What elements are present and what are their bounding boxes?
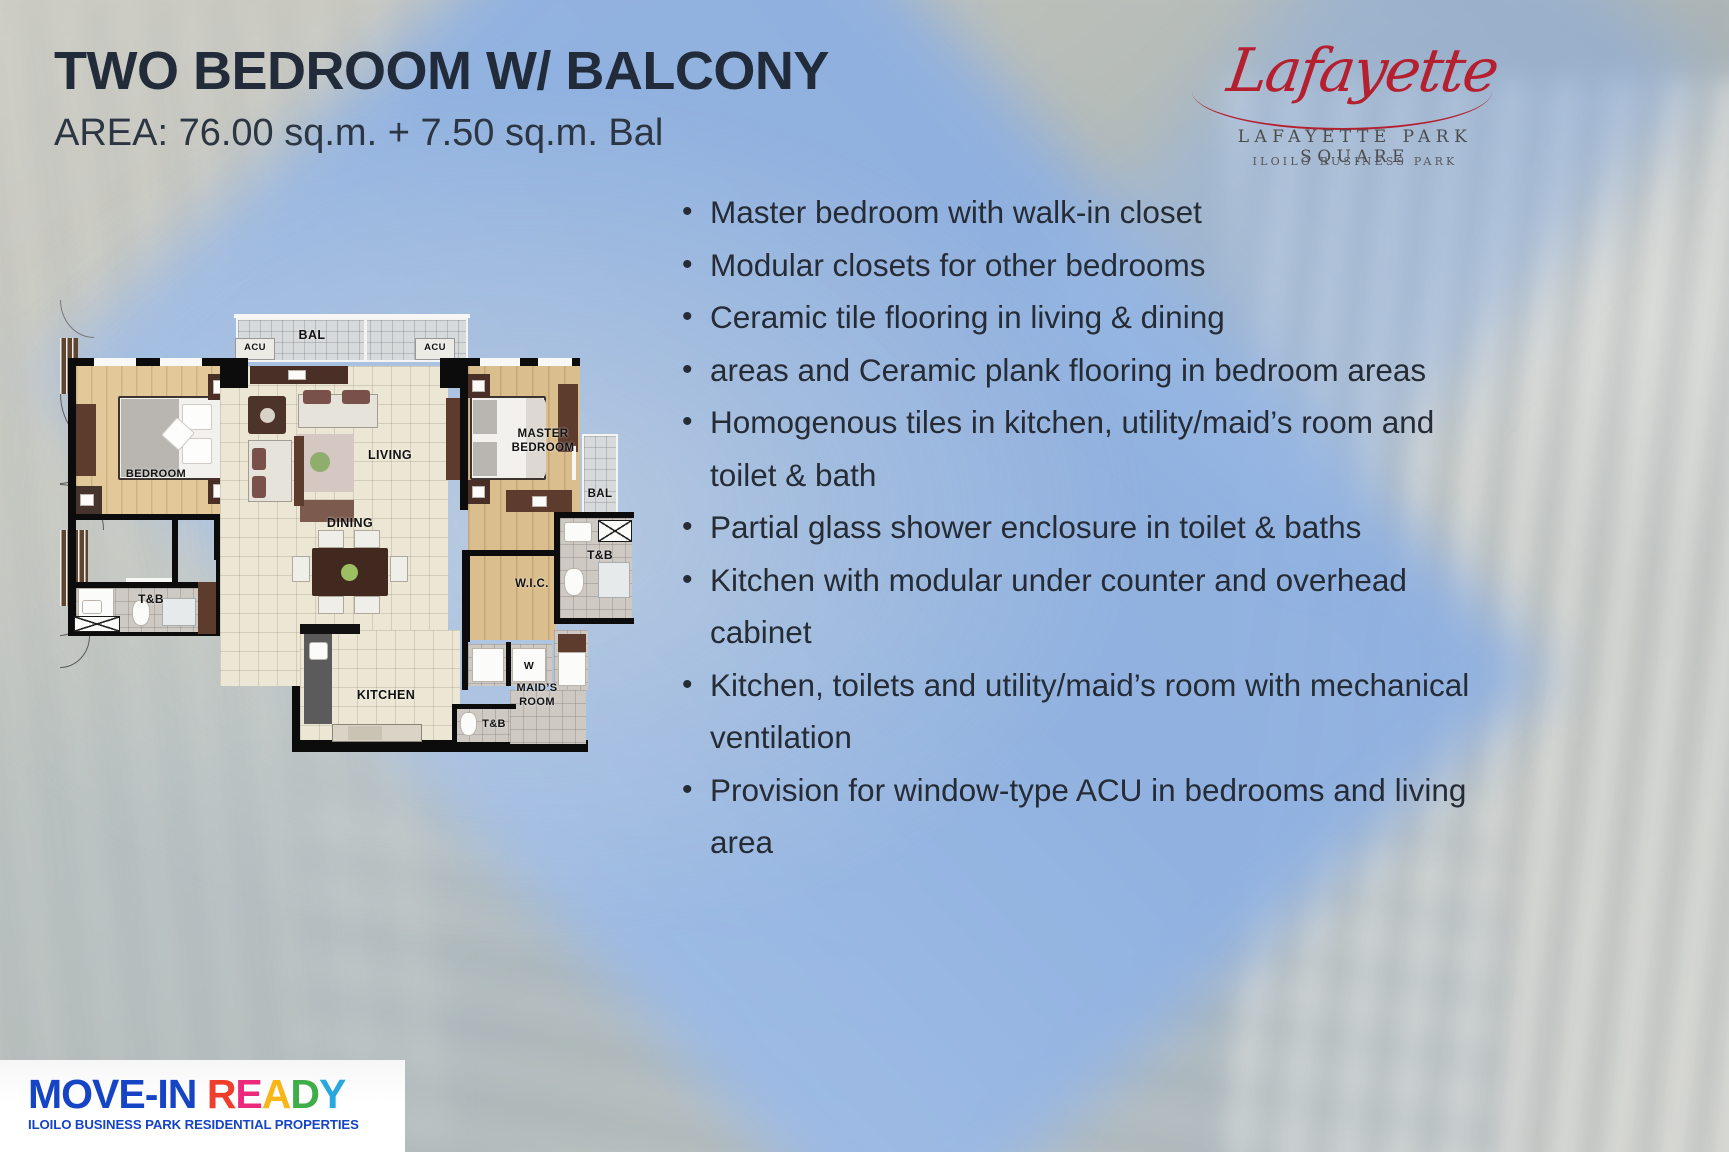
tb-left-window-icon: [74, 616, 120, 632]
list-item: • Partial glass shower enclosure in toil…: [682, 501, 1502, 554]
bedroom-lower-wall-b: [172, 514, 220, 520]
floorplan-label-bedroom: BEDROOM: [116, 468, 196, 480]
wic-top-wall: [462, 550, 558, 556]
bottom-bar: MOVE-IN READY ILOILO BUSINESS PARK RESID…: [0, 1060, 405, 1152]
ready-letter-e: E: [235, 1071, 261, 1117]
floorplan-label-maids-line1: MAID’S: [504, 682, 570, 694]
move-in-ready-wordmark: MOVE-IN READY: [28, 1072, 359, 1116]
dining-chair: [318, 530, 344, 548]
kitchen-range-icon: [348, 726, 382, 740]
floorplan-label-tb-bottom: T&B: [472, 718, 516, 730]
floor-plan-image: BEDROOM T&B LIVING DINING: [60, 300, 650, 770]
floorplan-label-maids-line2: ROOM: [504, 696, 570, 708]
move-in-ready-tagline: ILOILO BUSINESS PARK RESIDENTIAL PROPERT…: [28, 1117, 359, 1132]
tb-right-bottom-wall: [554, 618, 634, 624]
floorplan-label-tb-left: T&B: [128, 592, 174, 606]
living-table-decor: [260, 408, 275, 423]
living-wall-top-a: [220, 358, 248, 388]
bedroom-window: [94, 358, 136, 366]
master-bedroom-window: [538, 358, 572, 366]
list-item: • areas and Ceramic plank flooring in be…: [682, 344, 1502, 397]
floorplan-label-master-line2: BEDROOM: [500, 442, 586, 454]
exterior-wall-left: [68, 358, 76, 636]
master-bedroom-window: [480, 358, 520, 366]
bullet-icon: •: [682, 291, 710, 344]
bullet-icon: •: [682, 396, 710, 449]
feature-text: areas and Ceramic plank flooring in bedr…: [710, 344, 1502, 397]
bullet-icon: •: [682, 554, 710, 607]
dining-chair: [292, 556, 310, 582]
feature-text: Master bedroom with walk-in closet: [710, 186, 1502, 239]
feature-list: • Master bedroom with walk-in closet • M…: [682, 186, 1502, 869]
lafayette-swash-icon: [1192, 90, 1492, 130]
master-bed-shade: [473, 442, 497, 476]
floorplan-label-acu-left: ACU: [236, 342, 274, 353]
bullet-icon: •: [682, 344, 710, 397]
kitchen-sink-icon: [309, 642, 328, 660]
maids-door-arc-icon: [60, 636, 90, 668]
utility-left-wall: [462, 642, 468, 690]
tb-bottom-left-wall: [452, 704, 457, 744]
kitchen-upper-cabinet: [300, 624, 360, 634]
tb-right-sink: [564, 522, 592, 542]
floorplan-label-acu-right: ACU: [416, 342, 454, 353]
list-item: • Homogenous tiles in kitchen, utility/m…: [682, 396, 1502, 501]
feature-text: Kitchen with modular under counter and o…: [710, 554, 1502, 659]
utility-divider-wall: [506, 642, 511, 686]
list-item: • Master bedroom with walk-in closet: [682, 186, 1502, 239]
living-loveseat-cushion: [252, 448, 266, 470]
wic-floor: [468, 556, 556, 640]
lafayette-script-wrap: Lafayette: [1170, 28, 1530, 123]
balcony-top-rail: [234, 314, 470, 318]
dining-chair: [390, 556, 408, 582]
floorplan-label-living: LIVING: [360, 448, 420, 462]
maids-bed: [558, 634, 586, 652]
bedroom-partition-wall: [172, 518, 178, 586]
bullet-icon: •: [682, 239, 710, 292]
feature-text: Partial glass shower enclosure in toilet…: [710, 501, 1502, 554]
living-sofa-cushion: [342, 390, 370, 404]
list-item: • Kitchen, toilets and utility/maid’s ro…: [682, 659, 1502, 764]
list-item: • Modular closets for other bedrooms: [682, 239, 1502, 292]
master-lamp-icon: [472, 486, 485, 498]
bedroom-tv-icon: [80, 494, 94, 506]
master-lamp-icon: [472, 380, 485, 392]
lafayette-subtitle-line2: ILOILO BUSINESS PARK: [1180, 155, 1530, 168]
bedroom-lower-wall: [76, 514, 178, 520]
bedroom-window: [160, 358, 202, 366]
floorplan-label-dining: DINING: [310, 516, 390, 530]
feature-text: Ceramic tile flooring in living & dining: [710, 291, 1502, 344]
move-in-ready-logo: MOVE-IN READY ILOILO BUSINESS PARK RESID…: [28, 1072, 359, 1132]
bedroom-modular-closet: [76, 404, 96, 476]
master-bedroom-left-wall: [460, 358, 468, 510]
bullet-icon: •: [682, 764, 710, 817]
floorplan-label-bal-top: BAL: [282, 328, 342, 342]
maids-mattress: [558, 652, 586, 686]
floorplan-label-wic: W.I.C.: [504, 578, 560, 590]
feature-text: Kitchen, toilets and utility/maid’s room…: [710, 659, 1502, 764]
ready-letter-r: R: [207, 1071, 236, 1117]
tb-left-cabinet: [198, 582, 216, 634]
living-tv-icon: [288, 370, 306, 380]
bullet-icon: •: [682, 659, 710, 712]
tb-right-toilet: [564, 568, 584, 596]
floorplan-label-kitchen: KITCHEN: [348, 688, 424, 702]
tb-left-sink: [82, 600, 102, 614]
move-in-text: MOVE-IN: [28, 1071, 196, 1117]
living-sofa-cushion: [303, 390, 331, 404]
balcony-door-leaf: [364, 320, 367, 360]
feature-text: Modular closets for other bedrooms: [710, 239, 1502, 292]
floorplan-label-master-line1: MASTER: [500, 428, 586, 440]
feature-text: Provision for window-type ACU in bedroom…: [710, 764, 1502, 869]
tb-right-left-wall: [554, 512, 560, 624]
utility-dryer: [472, 648, 504, 682]
floorplan-label-washer: W: [512, 660, 546, 672]
bullet-icon: •: [682, 186, 710, 239]
balcony-door-arc-icon: [60, 300, 94, 338]
floorplan-label-bal-right: BAL: [578, 488, 622, 500]
page-title: TWO BEDROOM W/ BALCONY: [54, 40, 829, 102]
tb-right-shower-glass: [598, 562, 630, 598]
master-tv-icon: [532, 496, 547, 507]
wic-left-wall: [462, 556, 470, 642]
ready-letter-d: D: [290, 1071, 319, 1117]
master-headboard: [446, 398, 460, 480]
dining-chair: [354, 530, 380, 548]
living-plant-icon: [310, 452, 330, 472]
living-divider: [294, 436, 304, 506]
tb-right-top-wall: [554, 512, 634, 518]
list-item: • Provision for window-type ACU in bedro…: [682, 764, 1502, 869]
bullet-icon: •: [682, 501, 710, 554]
dining-centerpiece-icon: [341, 564, 358, 581]
feature-text: Homogenous tiles in kitchen, utility/mai…: [710, 396, 1502, 501]
list-item: • Kitchen with modular under counter and…: [682, 554, 1502, 659]
lafayette-logo: Lafayette LAFAYETTE PARK SQUARE ILOILO B…: [1170, 28, 1530, 183]
page-subtitle-area: AREA: 76.00 sq.m. + 7.50 sq.m. Bal: [54, 112, 663, 155]
floorplan-label-tb-right: T&B: [578, 548, 622, 562]
living-loveseat-cushion: [252, 476, 266, 498]
dining-chair: [318, 596, 344, 614]
tb-right-window-icon: [598, 520, 632, 542]
ready-letter-a: A: [262, 1071, 291, 1117]
list-item: • Ceramic tile flooring in living & dini…: [682, 291, 1502, 344]
ready-letter-y: Y: [319, 1071, 345, 1117]
dining-chair: [354, 596, 380, 614]
master-bed-shade: [473, 400, 497, 434]
